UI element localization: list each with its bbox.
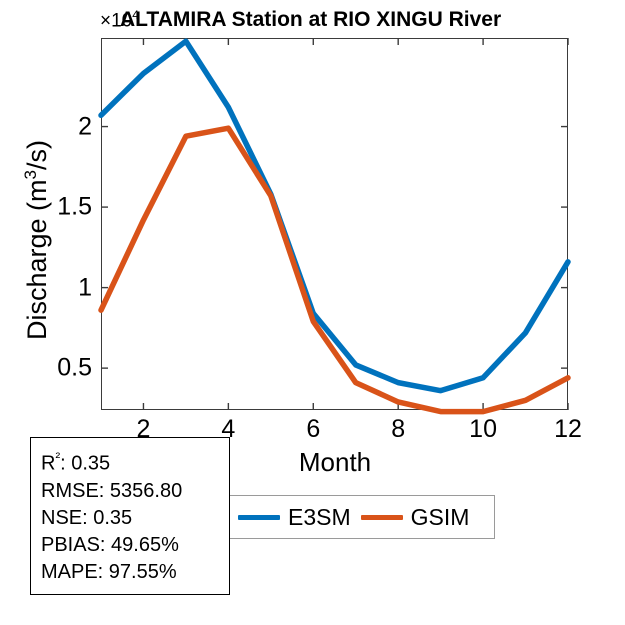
legend-color-swatch	[361, 515, 403, 520]
data-series-group	[101, 41, 568, 411]
x-tick-label: 8	[368, 415, 428, 444]
y-axis-label: Discharge (m3/s)	[21, 75, 53, 405]
plot-lines-svg	[101, 38, 568, 410]
stat-pbias: PBIAS: 49.65%	[41, 532, 229, 559]
y-axis-label-suffix: /s)	[22, 140, 52, 170]
chart-title: ALTAMIRA Station at RIO XINGU River	[120, 8, 600, 32]
stat-nse: NSE: 0.35	[41, 505, 229, 532]
series-line-gsim	[101, 128, 568, 411]
stat-r2-value: : 0.35	[60, 453, 110, 475]
x-tick-label: 12	[538, 415, 598, 444]
x-axis-label: Month	[245, 447, 425, 478]
legend-color-swatch	[238, 515, 280, 520]
y-axis-label-exponent: 3	[21, 170, 40, 179]
x-tick-label: 10	[453, 415, 513, 444]
stat-r2: R²: 0.35	[41, 444, 229, 478]
x-tick-label: 6	[283, 415, 343, 444]
y-axis-label-prefix: Discharge (m	[22, 179, 52, 340]
stat-r2-label: R	[41, 453, 55, 475]
legend-label: E3SM	[288, 504, 351, 531]
chart-figure: ×104 ALTAMIRA Station at RIO XINGU River…	[0, 0, 625, 625]
legend-label: GSIM	[411, 504, 470, 531]
stat-rmse: RMSE: 5356.80	[41, 478, 229, 505]
stat-mape: MAPE: 97.55%	[41, 559, 229, 586]
chart-legend: E3SMGSIM	[227, 495, 495, 539]
series-line-e3sm	[101, 41, 568, 390]
statistics-textbox: R²: 0.35 RMSE: 5356.80 NSE: 0.35 PBIAS: …	[30, 437, 230, 595]
legend-entry-e3sm[interactable]: E3SM	[228, 504, 351, 531]
legend-entry-gsim[interactable]: GSIM	[351, 504, 470, 531]
